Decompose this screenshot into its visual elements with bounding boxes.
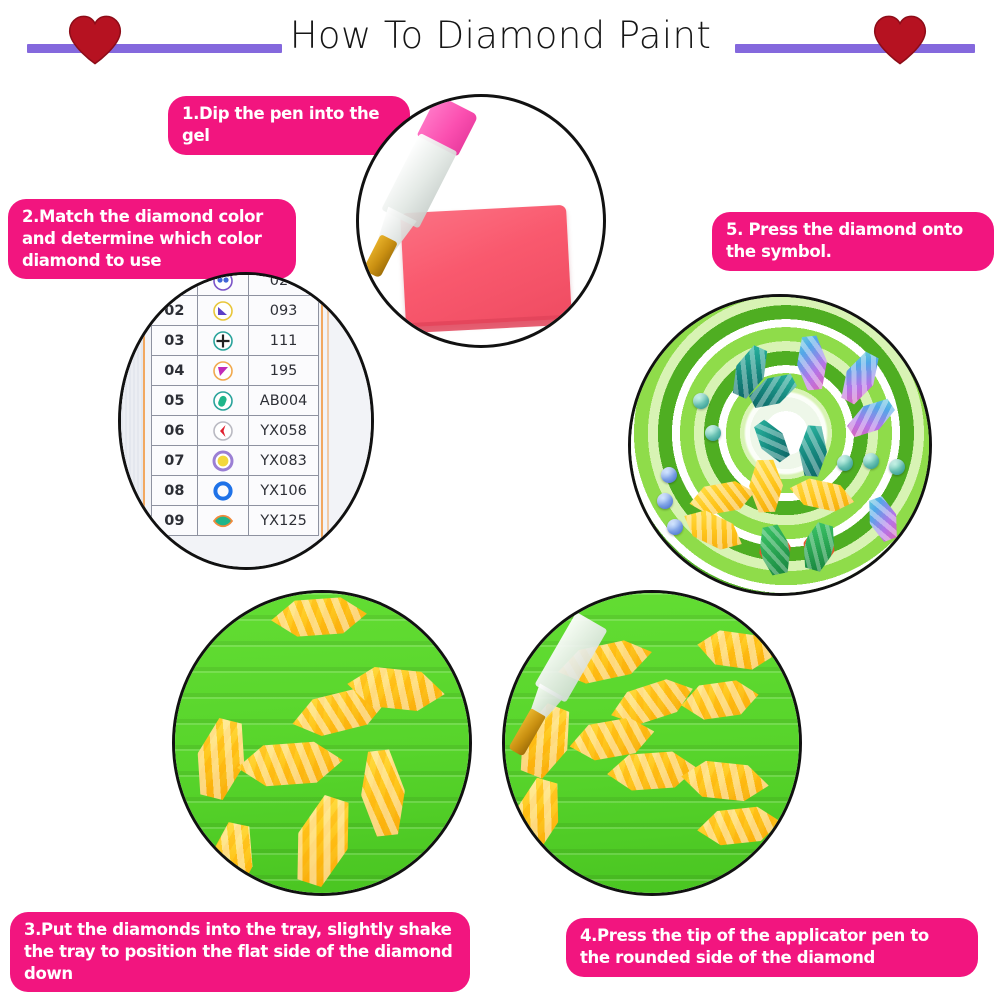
legend-code: 020 [249, 275, 319, 296]
legend-code: YX058 [249, 416, 319, 446]
canvas-symbol-dot [889, 459, 905, 475]
filled-circle-symbol [197, 446, 248, 476]
step-3-label: 3.Put the diamonds into the tray, slight… [10, 912, 470, 992]
table-row: 03 111 [152, 326, 319, 356]
legend-number: 02 [152, 296, 198, 326]
double-dot-symbol [197, 275, 248, 296]
plus-symbol [197, 326, 248, 356]
table-row: 01 020 [152, 275, 319, 296]
ring-symbol [197, 476, 248, 506]
legend-number: 08 [152, 476, 198, 506]
canvas-symbol-dot [657, 493, 673, 509]
photo-scene-chart: 01 020 02 093 [121, 275, 371, 567]
legend-number: 06 [152, 416, 198, 446]
canvas-symbol-dot [693, 393, 709, 409]
photo-press-diamond-onto-symbol [628, 294, 932, 596]
flag-symbol [197, 356, 248, 386]
chart-sheet: 01 020 02 093 [121, 275, 371, 567]
table-row: 02 093 [152, 296, 319, 326]
canvas-symbol-dot [705, 425, 721, 441]
pen-tip [508, 708, 546, 756]
legend-code: YX083 [249, 446, 319, 476]
photo-scene-mandala [631, 297, 929, 593]
legend-code: 111 [249, 326, 319, 356]
legend-number: 09 [152, 506, 198, 536]
infographic-page: How To Diamond Paint 1.Dip the pen into … [0, 0, 1001, 1001]
canvas-fabric-edge [121, 275, 145, 567]
legend-code: 093 [249, 296, 319, 326]
color-legend-table: 01 020 02 093 [151, 275, 319, 536]
photo-diamonds-in-tray [172, 590, 472, 896]
guide-line [321, 275, 323, 567]
legend-code: YX125 [249, 506, 319, 536]
legend-code: YX106 [249, 476, 319, 506]
legend-number: 04 [152, 356, 198, 386]
table-row: 08 YX106 [152, 476, 319, 506]
legend-number: 03 [152, 326, 198, 356]
legend-number: 01 [152, 275, 198, 296]
table-row: 07 YX083 [152, 446, 319, 476]
canvas-symbol-dot [837, 455, 853, 471]
step-4-label: 4.Press the tip of the applicator pen to… [566, 918, 978, 977]
photo-dip-pen-in-gel [356, 94, 606, 348]
pen-tip [363, 234, 398, 278]
photo-pen-picks-diamond [502, 590, 802, 896]
canvas-symbol-dot [863, 453, 879, 469]
legend-number: 07 [152, 446, 198, 476]
canvas-symbol-dot [667, 519, 683, 535]
photo-scene-tray-pen [505, 593, 799, 893]
leaf-symbol [197, 506, 248, 536]
legend-code: 195 [249, 356, 319, 386]
step-5-label: 5. Press the diamond onto the symbol. [712, 212, 994, 271]
legend-code: AB004 [249, 386, 319, 416]
table-row: 09 YX125 [152, 506, 319, 536]
table-row: 04 195 [152, 356, 319, 386]
guide-line [327, 275, 329, 567]
step-2-label: 2.Match the diamond color and determine … [8, 199, 296, 279]
photo-scene-gel [359, 97, 603, 345]
page-title: How To Diamond Paint [0, 14, 1001, 57]
canvas-symbol-dot [661, 467, 677, 483]
guide-line [143, 275, 145, 567]
arrow-left-symbol [197, 416, 248, 446]
table-row: 05 AB004 [152, 386, 319, 416]
triangle-symbol [197, 296, 248, 326]
photo-color-chart: 01 020 02 093 [118, 272, 374, 570]
header: How To Diamond Paint [0, 0, 1001, 90]
legend-number: 05 [152, 386, 198, 416]
table-row: 06 YX058 [152, 416, 319, 446]
photo-scene-tray [175, 593, 469, 893]
capsule-symbol [197, 386, 248, 416]
